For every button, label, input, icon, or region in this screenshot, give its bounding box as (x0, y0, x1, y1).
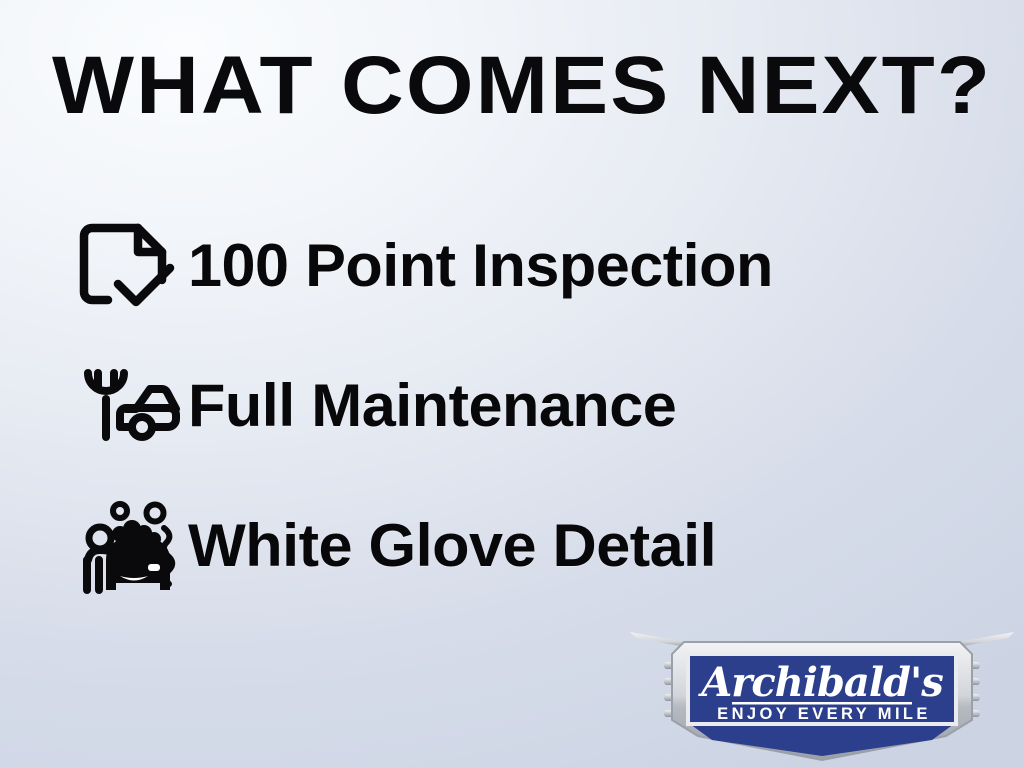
list-item: Full Maintenance (72, 336, 1012, 476)
slide-canvas: WHAT COMES NEXT? 100 Point Insp (0, 0, 1024, 768)
car-wash-icon (72, 500, 188, 592)
document-check-icon (72, 220, 188, 312)
list-item: White Glove Detail (72, 476, 1012, 616)
wrench-car-icon (72, 360, 188, 452)
list-item-label: 100 Point Inspection (188, 234, 773, 298)
list-item-label: Full Maintenance (188, 374, 676, 438)
dealer-logo: Archibald's ENJOY EVERY MILE (628, 620, 1016, 762)
list-item: 100 Point Inspection (72, 196, 1012, 336)
logo-wordmark: Archibald's (697, 659, 943, 706)
feature-list: 100 Point Inspection (72, 196, 1012, 616)
logo-tagline: ENJOY EVERY MILE (717, 705, 931, 723)
list-item-label: White Glove Detail (188, 514, 716, 578)
page-title: WHAT COMES NEXT? (52, 44, 1024, 128)
